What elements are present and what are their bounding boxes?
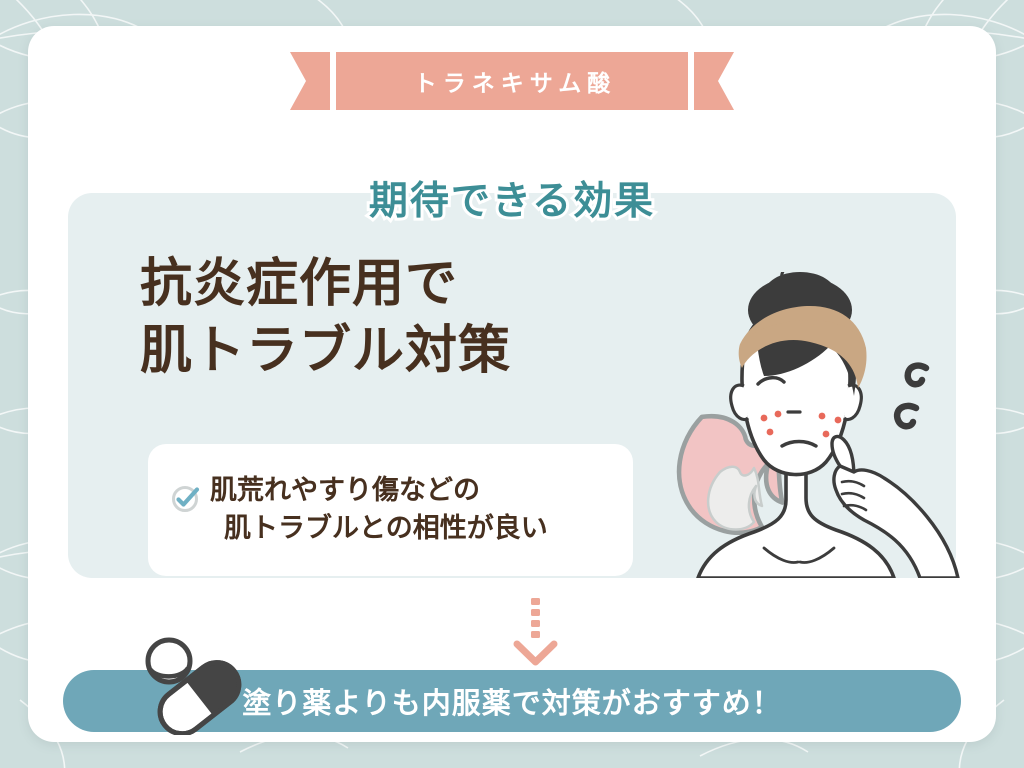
- cta-banner: 塗り薬よりも内服薬で対策がおすすめ！: [63, 670, 961, 732]
- dotted-down-arrow: [506, 598, 566, 666]
- main-card: トラネキサム酸 期待できる効果 抗炎症作用で 肌トラブル対策 肌荒れやすり傷など…: [28, 26, 996, 742]
- cta-text: 塗り薬よりも内服薬で対策がおすすめ！: [242, 680, 781, 722]
- headline-line-2: 肌トラブル対策: [140, 318, 511, 385]
- pills-icon: [135, 635, 245, 735]
- ribbon-title: トラネキサム酸: [408, 64, 617, 98]
- check-circle-icon: [170, 480, 204, 514]
- woman-with-skin-trouble-illustration: [658, 272, 968, 578]
- bullet-card: 肌荒れやすり傷などの 肌トラブルとの相性が良い: [148, 444, 633, 576]
- bullet-text: 肌荒れやすり傷などの 肌トラブルとの相性が良い: [210, 472, 548, 549]
- ribbon-body: トラネキサム酸: [336, 52, 688, 110]
- ribbon-tail-right: [694, 52, 734, 110]
- ribbon-tail-left: [290, 52, 330, 110]
- section-heading: 期待できる効果: [28, 170, 996, 226]
- infographic-stage: トラネキサム酸 期待できる効果 抗炎症作用で 肌トラブル対策 肌荒れやすり傷など…: [0, 0, 1024, 768]
- bullet-line-1: 肌荒れやすり傷などの: [210, 475, 480, 506]
- headline-line-1: 抗炎症作用で: [140, 251, 511, 318]
- sweat-marks: [897, 366, 926, 427]
- bullet-line-2: 肌トラブルとの相性が良い: [210, 510, 548, 548]
- ribbon-banner: トラネキサム酸: [290, 52, 734, 110]
- headline: 抗炎症作用で 肌トラブル対策: [140, 251, 511, 384]
